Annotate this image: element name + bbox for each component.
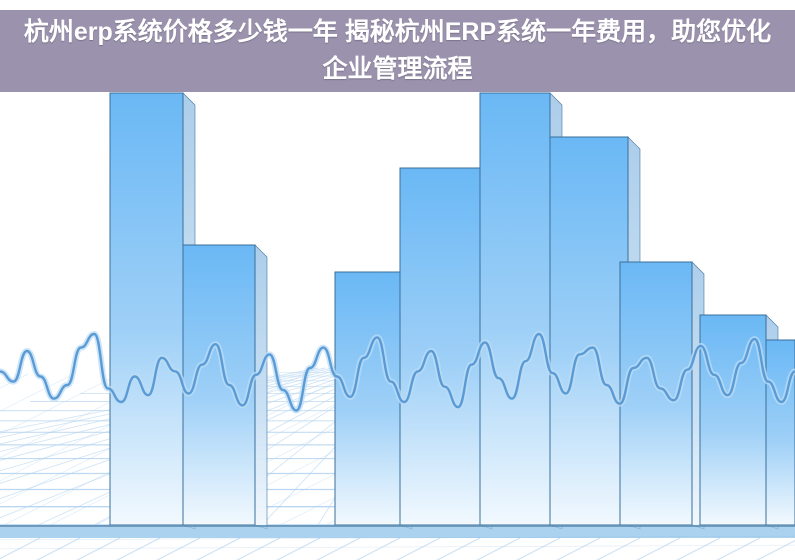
bar [620,262,704,529]
bar-side-face [255,245,267,529]
bar-front-face [335,272,400,525]
bar [766,340,795,529]
bar-front-face [766,340,795,525]
bar [110,93,195,529]
chart-screenshot: 杭州erp系统价格多少钱一年 揭秘杭州ERP系统一年费用，助您优化企业管理流程 [0,0,795,560]
headline-banner: 杭州erp系统价格多少钱一年 揭秘杭州ERP系统一年费用，助您优化企业管理流程 [0,10,795,92]
bar-front-face [400,168,480,525]
bar-front-face [480,93,550,525]
baseline-rule [0,525,795,527]
bar-front-face [550,137,628,525]
bar-front-face [110,93,183,525]
page-title: 杭州erp系统价格多少钱一年 揭秘杭州ERP系统一年费用，助您优化企业管理流程 [14,14,781,88]
